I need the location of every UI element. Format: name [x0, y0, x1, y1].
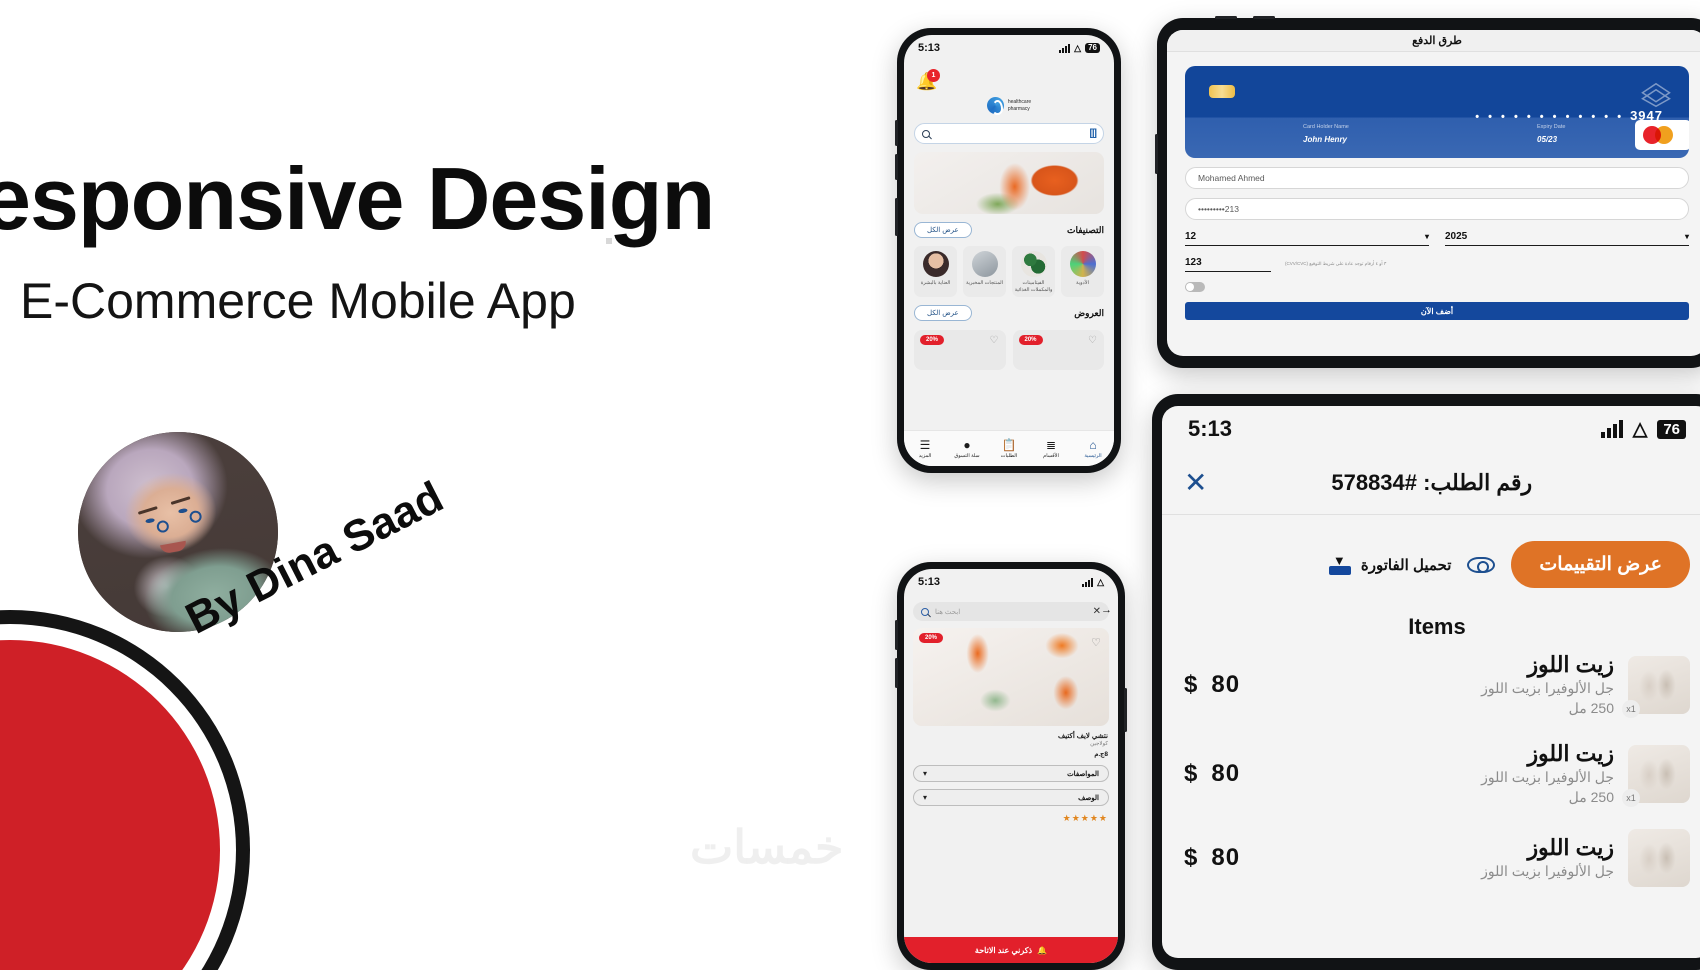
nav-label: الأقسام: [1043, 453, 1059, 459]
category-label: الأدوية: [1076, 280, 1089, 287]
item-name: زيت اللوز: [1527, 741, 1614, 766]
items-header: Items: [1162, 614, 1700, 640]
download-invoice-label: تحميل الفاتورة: [1361, 556, 1452, 574]
product-subtitle: كولاجين: [914, 741, 1108, 747]
phone-screen-home: 5:13 △ 76 🔔 1 healthcare pharmacy [|]: [904, 35, 1114, 466]
table-row[interactable]: $ 80 زيت اللوز جل الألوفيرا بزيت اللوز 2…: [1162, 640, 1700, 729]
order-actions: تحميل الفاتورة عرض التقييمات: [1162, 515, 1700, 588]
cvv-row: 123 ٣ أو ٤ أرقام توجد عادة على شريط التو…: [1185, 257, 1689, 272]
expiry-row: 12 ▾ 2025 ▾: [1185, 231, 1689, 246]
card-expiry-value: 05/23: [1537, 135, 1557, 144]
nav-label: المزيد: [919, 453, 932, 459]
nav-item-cart[interactable]: ● سلة التسوق: [946, 439, 988, 459]
close-icon[interactable]: ✕: [1184, 469, 1207, 497]
accordion-label: الوصف: [927, 794, 1099, 802]
item-price: 80: [1211, 844, 1240, 872]
search-icon: [921, 608, 929, 616]
volume-up-button[interactable]: [895, 620, 898, 650]
watermark: خمسات: [690, 820, 843, 874]
item-price: 80: [1211, 760, 1240, 788]
clear-search-icon[interactable]: ✕: [1093, 606, 1101, 617]
favorite-icon[interactable]: ♡: [1088, 335, 1097, 346]
download-invoice-button[interactable]: تحميل الفاتورة: [1329, 555, 1452, 575]
product-image: 20% ♡: [913, 628, 1109, 726]
status-bar: 5:13 △ 76: [1162, 406, 1700, 452]
notification-badge: 1: [927, 69, 940, 82]
notify-label: ذكرني عند الاتاحة: [975, 946, 1032, 955]
item-text: زيت اللوز جل الألوفيرا بزيت اللوز 250 مل: [1254, 741, 1614, 808]
category-thumb: [923, 251, 949, 277]
payment-header: طرق الدفع: [1167, 30, 1700, 52]
order-title: رقم الطلب: #578834: [1207, 470, 1656, 496]
category-card[interactable]: الأدوية: [1061, 246, 1104, 297]
categories-list: العناية بالبشرة المنتجات المخبرية الفيتا…: [914, 246, 1104, 297]
view-reviews-button[interactable]: عرض التقييمات: [1511, 541, 1690, 588]
page-subtitle: E-Commerce Mobile App: [20, 272, 576, 330]
category-card[interactable]: الفيتامينات والمكملات الغذائية: [1012, 246, 1055, 297]
app-logo: healthcare pharmacy: [904, 97, 1114, 114]
cart-icon: ●: [963, 439, 970, 451]
search-input[interactable]: ابحث هنا ✕: [913, 602, 1109, 621]
search-icon: [922, 130, 930, 138]
offers-list: 20% ♡ 20% ♡: [914, 330, 1104, 370]
power-button[interactable]: [1124, 688, 1127, 732]
item-name: زيت اللوز: [1527, 652, 1614, 677]
offer-card[interactable]: 20% ♡: [1013, 330, 1105, 370]
categories-section-header: عرض الكل التصنيفات: [914, 222, 1104, 238]
nav-label: الطلبات: [1001, 453, 1017, 459]
expiry-year-select[interactable]: 2025 ▾: [1445, 231, 1689, 246]
nav-item-more[interactable]: ☰ المزيد: [904, 439, 946, 459]
barcode-scan-icon[interactable]: [|]: [1090, 128, 1096, 139]
category-thumb: [1070, 251, 1096, 277]
status-time: 5:13: [918, 42, 940, 54]
discount-badge: 20%: [1019, 335, 1043, 345]
mastercard-icon: [1635, 120, 1689, 150]
cvv-hint: ٣ أو ٤ أرقام توجد عادة على شريط التوقيع …: [1285, 261, 1386, 268]
discount-badge: 20%: [919, 633, 943, 643]
signal-icon: [1082, 578, 1093, 587]
category-label: العناية بالبشرة: [921, 280, 951, 287]
wifi-icon: △: [1633, 418, 1648, 441]
notifications-button[interactable]: 🔔 1: [916, 73, 938, 95]
credit-card-preview: • • • • • • • • • • • •3947 Card Holder …: [1185, 66, 1689, 158]
category-label: المنتجات المخبرية: [966, 280, 1003, 287]
card-holder-label: Card Holder Name: [1303, 124, 1349, 130]
item-currency: $: [1184, 844, 1197, 872]
device-tablet-payment: طرق الدفع • • • • • • • • • • • •3947 Ca…: [1157, 18, 1700, 368]
volume-down-button[interactable]: [895, 658, 898, 688]
search-placeholder: ابحث هنا: [935, 608, 960, 616]
accordion-label: المواصفات: [927, 770, 1099, 778]
item-desc-2: 250 مل: [1569, 700, 1614, 716]
tablet-screen-payment: طرق الدفع • • • • • • • • • • • •3947 Ca…: [1167, 30, 1700, 356]
status-indicators: △: [1082, 577, 1104, 588]
card-expiry-label: Expiry Date: [1537, 124, 1565, 130]
card-number-input[interactable]: •••••••••213: [1185, 198, 1689, 220]
category-label: الفيتامينات والمكملات الغذائية: [1014, 280, 1053, 293]
item-name: زيت اللوز: [1527, 835, 1614, 860]
category-thumb: [972, 251, 998, 277]
item-desc-1: جل الألوفيرا بزيت اللوز: [1481, 680, 1614, 696]
item-quantity: x1: [1622, 700, 1640, 718]
item-thumbnail: x1: [1628, 656, 1690, 714]
phone-screen-product: 5:13 △ ابحث هنا ✕ → 20% ♡ نتشي لايف أكتي…: [904, 569, 1118, 963]
favorite-icon[interactable]: ♡: [990, 335, 999, 346]
decorative-red-circle: [0, 640, 220, 970]
nav-item-orders[interactable]: 📋 الطلبات: [988, 439, 1030, 459]
power-button[interactable]: [895, 198, 898, 236]
table-row[interactable]: $ 80 زيت اللوز جل الألوفيرا بزيت اللوز 2…: [1162, 729, 1700, 818]
page-title: esponsive Design: [0, 148, 714, 250]
battery-icon: 76: [1085, 43, 1100, 53]
accordion-description[interactable]: ▾ الوصف: [913, 789, 1109, 806]
category-card[interactable]: المنتجات المخبرية: [963, 246, 1006, 297]
offers-section-title: العروض: [1074, 308, 1104, 319]
device-phone-home: 5:13 △ 76 🔔 1 healthcare pharmacy [|]: [897, 28, 1121, 473]
tablet-screen-order: 5:13 △ 76 ✕ رقم الطلب: #578834 تحميل الف…: [1162, 406, 1700, 958]
card-brand-icon: [1641, 82, 1671, 108]
decorative-dot: [606, 238, 612, 244]
pharmacy-logo-icon: [987, 97, 1004, 114]
bottom-navigation: ☰ المزيد ● سلة التسوق 📋 الطلبات ≣ الأقسا…: [904, 430, 1114, 466]
status-time: 5:13: [918, 576, 940, 588]
card-number: • • • • • • • • • • • •3947: [1475, 108, 1663, 123]
device-tablet-order: 5:13 △ 76 ✕ رقم الطلب: #578834 تحميل الف…: [1152, 394, 1700, 970]
brand-text: healthcare pharmacy: [1008, 99, 1031, 112]
offers-view-all-button[interactable]: عرض الكل: [914, 305, 972, 321]
status-indicators: △ 76: [1059, 43, 1100, 54]
wifi-icon: △: [1097, 577, 1104, 588]
nav-item-categories[interactable]: ≣ الأقسام: [1030, 439, 1072, 459]
card-holder-value: John Henry: [1303, 135, 1347, 144]
offer-card[interactable]: 20% ♡: [914, 330, 1006, 370]
tablet-side-button[interactable]: [1155, 134, 1158, 174]
expiry-month-value: 12: [1185, 231, 1196, 242]
card-number-value: •••••••••213: [1198, 204, 1239, 214]
back-arrow-icon[interactable]: →: [1101, 604, 1112, 616]
payment-title: طرق الدفع: [1412, 34, 1462, 47]
item-text: زيت اللوز جل الألوفيرا بزيت اللوز 250 مل: [1254, 652, 1614, 719]
status-bar: 5:13 △: [904, 569, 1118, 595]
offers-section-header: عرض الكل العروض: [914, 305, 1104, 321]
table-row[interactable]: $ 80 زيت اللوز جل الألوفيرا بزيت اللوز: [1162, 817, 1700, 897]
signal-icon: [1059, 44, 1070, 53]
wifi-icon: △: [1074, 43, 1081, 54]
volume-down-button[interactable]: [895, 154, 898, 180]
categories-view-all-button[interactable]: عرض الكل: [914, 222, 972, 238]
accordion-specs[interactable]: ▾ المواصفات: [913, 765, 1109, 782]
volume-up-button[interactable]: [895, 120, 898, 146]
order-header: ✕ رقم الطلب: #578834: [1162, 452, 1700, 514]
card-number-mask: • • • • • • • • • • • •: [1475, 111, 1624, 123]
item-desc-1: جل الألوفيرا بزيت اللوز: [1481, 769, 1614, 785]
eye-icon[interactable]: [1467, 557, 1495, 573]
status-indicators: △ 76: [1601, 418, 1686, 441]
nav-item-home[interactable]: ⌂ الرئيسية: [1072, 439, 1114, 459]
expiry-month-select[interactable]: 12 ▾: [1185, 231, 1429, 246]
item-desc-1: جل الألوفيرا بزيت اللوز: [1481, 863, 1614, 879]
product-name: نتشي لايف أكتيف: [914, 732, 1108, 740]
item-thumbnail: [1628, 829, 1690, 887]
discount-badge: 20%: [920, 335, 944, 345]
item-text: زيت اللوز جل الألوفيرا بزيت اللوز: [1254, 835, 1614, 881]
chevron-down-icon: ▾: [1425, 232, 1429, 241]
chevron-down-icon: ▾: [1685, 232, 1689, 241]
add-card-button[interactable]: أضف الآن: [1185, 302, 1689, 320]
status-bar: 5:13 △ 76: [904, 35, 1114, 61]
rating-stars[interactable]: ★★★★★: [914, 813, 1108, 824]
item-currency: $: [1184, 671, 1197, 699]
favorite-icon[interactable]: ♡: [1091, 636, 1101, 649]
product-price: 8ج.م: [914, 750, 1108, 758]
bell-icon: 🔔: [1037, 946, 1047, 955]
tablet-volume-button[interactable]: [1253, 16, 1275, 19]
item-thumbnail: x1: [1628, 745, 1690, 803]
search-input[interactable]: [|]: [914, 123, 1104, 144]
download-icon: [1329, 555, 1351, 575]
categories-icon: ≣: [1046, 439, 1056, 451]
category-card[interactable]: العناية بالبشرة: [914, 246, 957, 297]
item-desc-2: 250 مل: [1569, 789, 1614, 805]
categories-section-title: التصنيفات: [1067, 225, 1104, 236]
brand-line-1: healthcare: [1008, 99, 1031, 105]
category-thumb: [1021, 251, 1047, 277]
battery-icon: 76: [1657, 420, 1686, 439]
notify-when-available-button[interactable]: 🔔 ذكرني عند الاتاحة: [904, 937, 1118, 963]
cvv-input[interactable]: 123: [1185, 257, 1271, 272]
promo-banner[interactable]: [914, 152, 1104, 214]
tablet-power-button[interactable]: [1215, 16, 1237, 19]
expiry-year-value: 2025: [1445, 231, 1467, 242]
cardholder-name-input[interactable]: Mohamed Ahmed: [1185, 167, 1689, 189]
status-time: 5:13: [1188, 416, 1232, 442]
cardholder-name-value: Mohamed Ahmed: [1198, 173, 1265, 183]
orders-icon: 📋: [1002, 439, 1017, 451]
brand-line-2: pharmacy: [1008, 106, 1030, 112]
signal-icon: [1601, 420, 1623, 438]
item-price: 80: [1211, 671, 1240, 699]
nav-label: سلة التسوق: [954, 453, 979, 459]
card-chip-icon: [1209, 85, 1235, 98]
nav-label: الرئيسية: [1084, 453, 1101, 459]
menu-icon: ☰: [920, 439, 931, 451]
item-quantity: x1: [1622, 789, 1640, 807]
home-icon: ⌂: [1089, 439, 1096, 451]
save-card-toggle[interactable]: [1185, 282, 1205, 292]
device-phone-product: 5:13 △ ابحث هنا ✕ → 20% ♡ نتشي لايف أكتي…: [897, 562, 1125, 970]
item-currency: $: [1184, 760, 1197, 788]
